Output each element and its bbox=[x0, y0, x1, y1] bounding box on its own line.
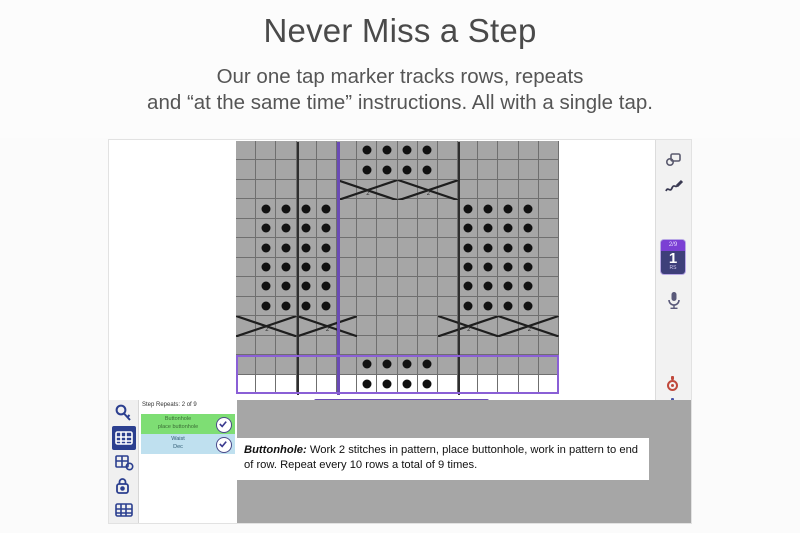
chart-cell[interactable] bbox=[337, 219, 357, 238]
chart-cell[interactable] bbox=[377, 316, 397, 335]
cable-cross-icon[interactable]: 2 bbox=[236, 316, 297, 336]
pencil-edit-icon[interactable] bbox=[662, 176, 686, 200]
chart-cell[interactable] bbox=[276, 180, 296, 199]
chart-cell[interactable] bbox=[377, 258, 397, 277]
chart-cell[interactable] bbox=[236, 336, 256, 355]
purl-dot-icon bbox=[302, 224, 311, 233]
chart-cell[interactable] bbox=[337, 277, 357, 296]
chart-cell[interactable] bbox=[357, 336, 377, 355]
purl-dot-icon bbox=[322, 224, 331, 233]
marker-tag-icon[interactable] bbox=[662, 148, 686, 172]
chart-cell[interactable] bbox=[438, 238, 458, 257]
purl-dot-icon bbox=[504, 301, 513, 310]
chart-cell[interactable] bbox=[276, 336, 296, 355]
purl-dot-icon bbox=[302, 301, 311, 310]
chart-cell[interactable] bbox=[519, 336, 539, 355]
chart-alt-icon[interactable] bbox=[112, 498, 136, 522]
promo-subtitle: Our one tap marker tracks rows, repeats … bbox=[0, 64, 800, 116]
chart-cell[interactable] bbox=[398, 238, 418, 257]
chart-cell[interactable] bbox=[236, 238, 256, 257]
cable-cross-icon[interactable]: 2 bbox=[398, 180, 459, 200]
step-check-icon[interactable] bbox=[216, 437, 232, 453]
purl-dot-icon bbox=[261, 204, 270, 213]
purl-dot-icon bbox=[463, 301, 472, 310]
marker-core bbox=[671, 384, 674, 387]
chart-cell[interactable] bbox=[458, 180, 478, 199]
chart-cell[interactable] bbox=[418, 277, 438, 296]
chart-cell[interactable] bbox=[519, 277, 539, 296]
chart-cell[interactable] bbox=[236, 219, 256, 238]
chart-cell[interactable] bbox=[438, 277, 458, 296]
chart-cell[interactable] bbox=[398, 336, 418, 355]
chart-cell[interactable] bbox=[236, 199, 256, 218]
purl-dot-icon bbox=[504, 224, 513, 233]
chart-cell[interactable] bbox=[458, 258, 478, 277]
chart-cell[interactable] bbox=[297, 199, 317, 218]
chart-cell[interactable] bbox=[418, 238, 438, 257]
chart-cell[interactable] bbox=[256, 336, 276, 355]
chart-cell[interactable] bbox=[377, 297, 397, 316]
chart-cell[interactable] bbox=[478, 258, 498, 277]
chart-cell[interactable] bbox=[498, 258, 518, 277]
chart-cell[interactable] bbox=[276, 199, 296, 218]
chart-cell[interactable] bbox=[458, 336, 478, 355]
active-row-highlight[interactable] bbox=[236, 355, 559, 394]
chart-cell[interactable] bbox=[377, 277, 397, 296]
chart-cell[interactable] bbox=[478, 141, 498, 160]
purl-dot-icon bbox=[281, 262, 290, 271]
purl-dot-icon bbox=[322, 243, 331, 252]
instruction-label: Buttonhole: bbox=[244, 444, 307, 456]
chart-cell[interactable] bbox=[539, 160, 559, 179]
chart-cell[interactable] bbox=[398, 160, 418, 179]
chart-cell[interactable] bbox=[297, 258, 317, 277]
chart-cell[interactable] bbox=[478, 297, 498, 316]
chart-cell[interactable] bbox=[539, 141, 559, 160]
purl-dot-icon bbox=[423, 146, 432, 155]
purl-dot-icon bbox=[322, 301, 331, 310]
purl-dot-icon bbox=[302, 204, 311, 213]
cable-count-label: 2 bbox=[427, 191, 430, 197]
chart-cell[interactable] bbox=[357, 141, 377, 160]
chart-cell[interactable] bbox=[317, 180, 337, 199]
chart-cell[interactable] bbox=[519, 160, 539, 179]
chart-cell[interactable] bbox=[458, 277, 478, 296]
chart-cell[interactable] bbox=[458, 238, 478, 257]
chart-cell[interactable] bbox=[357, 160, 377, 179]
promo-header: Never Miss a Step Our one tap marker tra… bbox=[0, 0, 800, 138]
chart-cell[interactable] bbox=[498, 160, 518, 179]
chart-cell[interactable] bbox=[276, 141, 296, 160]
chart-cell[interactable] bbox=[357, 277, 377, 296]
purl-dot-icon bbox=[261, 282, 270, 291]
step-row-title: Buttonhole bbox=[141, 416, 215, 422]
chart-cell[interactable] bbox=[236, 258, 256, 277]
purl-dot-icon bbox=[524, 262, 533, 271]
chart-cell[interactable] bbox=[519, 297, 539, 316]
chart-cell[interactable] bbox=[276, 160, 296, 179]
chart-cell[interactable] bbox=[357, 238, 377, 257]
chart-canvas[interactable]: 222222 bbox=[109, 140, 692, 400]
chart-cell[interactable] bbox=[519, 238, 539, 257]
cable-count-label: 2 bbox=[326, 327, 329, 333]
purl-dot-icon bbox=[322, 204, 331, 213]
chart-cell[interactable] bbox=[276, 258, 296, 277]
chart-cell[interactable] bbox=[418, 258, 438, 277]
chart-cell[interactable] bbox=[357, 297, 377, 316]
chart-cell[interactable] bbox=[357, 316, 377, 335]
chart-cell[interactable] bbox=[458, 297, 478, 316]
chart-cell[interactable] bbox=[478, 336, 498, 355]
chart-cell[interactable] bbox=[297, 141, 317, 160]
purl-dot-icon bbox=[483, 301, 492, 310]
purl-dot-icon bbox=[281, 282, 290, 291]
chart-cell[interactable] bbox=[418, 141, 438, 160]
chart-cell[interactable] bbox=[539, 258, 559, 277]
chart-cell[interactable] bbox=[377, 238, 397, 257]
chart-cell[interactable] bbox=[398, 199, 418, 218]
chart-cell[interactable] bbox=[458, 199, 478, 218]
purl-dot-icon bbox=[382, 165, 391, 174]
chart-cell[interactable] bbox=[317, 258, 337, 277]
chart-cell[interactable] bbox=[519, 219, 539, 238]
chart-cell[interactable] bbox=[478, 199, 498, 218]
purl-dot-icon bbox=[302, 243, 311, 252]
chart-cell[interactable] bbox=[418, 316, 438, 335]
cable-count-label: 2 bbox=[528, 327, 531, 333]
microphone-icon[interactable] bbox=[662, 288, 686, 312]
chart-cell[interactable] bbox=[317, 219, 337, 238]
chart-cell[interactable] bbox=[398, 277, 418, 296]
app-screenshot: 222222 2/9 bbox=[108, 139, 692, 524]
purl-dot-icon bbox=[403, 146, 412, 155]
chart-cell[interactable] bbox=[377, 199, 397, 218]
purl-dot-icon bbox=[463, 204, 472, 213]
step-row-subtitle: place buttonhole bbox=[141, 424, 215, 430]
purl-dot-icon bbox=[362, 146, 371, 155]
chart-cell[interactable] bbox=[438, 141, 458, 160]
chart-cell[interactable] bbox=[539, 336, 559, 355]
chart-cell[interactable] bbox=[438, 258, 458, 277]
chart-cell[interactable] bbox=[317, 336, 337, 355]
left-toolbar[interactable] bbox=[109, 400, 139, 524]
step-check-icon[interactable] bbox=[216, 417, 232, 433]
purl-dot-icon bbox=[362, 165, 371, 174]
chart-cell[interactable] bbox=[357, 258, 377, 277]
chart-cell[interactable] bbox=[478, 238, 498, 257]
purl-dot-icon bbox=[382, 146, 391, 155]
bottom-panel: Step Repeats: 2 of 9 Buttonhole place bu… bbox=[109, 400, 692, 524]
chart-cell[interactable] bbox=[398, 258, 418, 277]
chart-cell[interactable] bbox=[337, 297, 357, 316]
purl-dot-icon bbox=[483, 262, 492, 271]
chart-cell[interactable] bbox=[478, 277, 498, 296]
cable-count-label: 2 bbox=[265, 327, 268, 333]
chart-cell[interactable] bbox=[519, 141, 539, 160]
chart-cell[interactable] bbox=[236, 297, 256, 316]
chart-cell[interactable] bbox=[297, 277, 317, 296]
chart-cell[interactable] bbox=[317, 238, 337, 257]
chart-cell[interactable] bbox=[498, 199, 518, 218]
chart-cell[interactable] bbox=[438, 219, 458, 238]
chart-cell[interactable] bbox=[498, 336, 518, 355]
chart-cell[interactable] bbox=[337, 199, 357, 218]
chart-cell[interactable] bbox=[317, 160, 337, 179]
chart-cell[interactable] bbox=[256, 277, 276, 296]
chart-cell[interactable] bbox=[478, 219, 498, 238]
chart-cell[interactable] bbox=[337, 160, 357, 179]
purl-dot-icon bbox=[524, 224, 533, 233]
chart-cell[interactable] bbox=[418, 297, 438, 316]
purl-dot-icon bbox=[504, 262, 513, 271]
chart-cell[interactable] bbox=[256, 258, 276, 277]
chart-cell[interactable] bbox=[398, 297, 418, 316]
chart-cell[interactable] bbox=[438, 160, 458, 179]
chart-cell[interactable] bbox=[458, 219, 478, 238]
stitch-chart-grid[interactable]: 222222 bbox=[236, 141, 559, 394]
purl-dot-icon bbox=[281, 204, 290, 213]
chart-cell[interactable] bbox=[337, 141, 357, 160]
chart-cell[interactable] bbox=[498, 277, 518, 296]
chart-cell[interactable] bbox=[539, 238, 559, 257]
chart-cell[interactable] bbox=[256, 160, 276, 179]
chart-cell[interactable] bbox=[297, 297, 317, 316]
purl-dot-icon bbox=[504, 282, 513, 291]
chart-cell[interactable] bbox=[317, 297, 337, 316]
chart-cell[interactable] bbox=[256, 297, 276, 316]
purl-dot-icon bbox=[261, 262, 270, 271]
chart-cell[interactable] bbox=[458, 160, 478, 179]
chart-cell[interactable] bbox=[276, 277, 296, 296]
page-title: Never Miss a Step bbox=[0, 12, 800, 50]
cable-count-label: 2 bbox=[366, 191, 369, 197]
purl-dot-icon bbox=[261, 224, 270, 233]
chart-cell[interactable] bbox=[398, 219, 418, 238]
chart-cell[interactable] bbox=[498, 141, 518, 160]
chart-cell[interactable] bbox=[458, 141, 478, 160]
chart-cell[interactable] bbox=[337, 336, 357, 355]
purl-dot-icon bbox=[463, 243, 472, 252]
chart-cell[interactable] bbox=[357, 199, 377, 218]
chart-cell[interactable] bbox=[418, 199, 438, 218]
purl-dot-icon bbox=[261, 301, 270, 310]
purl-dot-icon bbox=[524, 282, 533, 291]
chart-cell[interactable] bbox=[236, 277, 256, 296]
chart-cell[interactable] bbox=[256, 219, 276, 238]
chart-cell[interactable] bbox=[438, 336, 458, 355]
chart-cell[interactable] bbox=[317, 277, 337, 296]
chart-cell[interactable] bbox=[256, 238, 276, 257]
chart-cell[interactable] bbox=[256, 180, 276, 199]
chart-cell[interactable] bbox=[357, 219, 377, 238]
chart-cell[interactable] bbox=[377, 141, 397, 160]
chart-cell[interactable] bbox=[377, 219, 397, 238]
chart-cell[interactable] bbox=[478, 160, 498, 179]
cable-cross-icon[interactable]: 2 bbox=[498, 316, 559, 336]
chart-cell[interactable] bbox=[377, 336, 397, 355]
chart-cell[interactable] bbox=[236, 160, 256, 179]
chart-cell[interactable] bbox=[418, 336, 438, 355]
chart-cell[interactable] bbox=[398, 316, 418, 335]
purl-dot-icon bbox=[302, 282, 311, 291]
row-counter-unit: RS bbox=[661, 265, 685, 271]
chart-cell[interactable] bbox=[317, 199, 337, 218]
chart-cell[interactable] bbox=[539, 219, 559, 238]
chart-cell[interactable] bbox=[256, 141, 276, 160]
chart-cell[interactable] bbox=[539, 277, 559, 296]
purl-dot-icon bbox=[281, 243, 290, 252]
chart-cell[interactable] bbox=[418, 160, 438, 179]
cable-cross-icon[interactable]: 2 bbox=[438, 316, 499, 336]
chart-cell[interactable] bbox=[519, 258, 539, 277]
chart-cell[interactable] bbox=[236, 141, 256, 160]
cable-cross-icon[interactable]: 2 bbox=[337, 180, 398, 200]
purl-dot-icon bbox=[302, 262, 311, 271]
step-repeats-panel[interactable]: Step Repeats: 2 of 9 Buttonhole place bu… bbox=[139, 400, 237, 524]
search-key-icon[interactable] bbox=[112, 402, 136, 426]
chart-cell[interactable] bbox=[377, 160, 397, 179]
purl-dot-icon bbox=[463, 282, 472, 291]
cable-cross-icon[interactable]: 2 bbox=[297, 316, 358, 336]
chart-cell[interactable] bbox=[317, 141, 337, 160]
purl-dot-icon bbox=[524, 204, 533, 213]
chart-cell[interactable] bbox=[438, 199, 458, 218]
chart-cell[interactable] bbox=[276, 238, 296, 257]
chart-cell[interactable] bbox=[418, 219, 438, 238]
purl-dot-icon bbox=[322, 282, 331, 291]
chart-cell[interactable] bbox=[498, 297, 518, 316]
cable-count-label: 2 bbox=[467, 327, 470, 333]
promo-screenshot: Never Miss a Step Our one tap marker tra… bbox=[0, 0, 800, 533]
chart-cell[interactable] bbox=[337, 258, 357, 277]
chart-cell[interactable] bbox=[297, 336, 317, 355]
purl-dot-icon bbox=[524, 301, 533, 310]
purl-dot-icon bbox=[423, 165, 432, 174]
instruction-panel: Buttonhole: Work 2 stitches in pattern, … bbox=[237, 438, 649, 480]
chart-cell[interactable] bbox=[519, 180, 539, 199]
chart-grid-icon[interactable] bbox=[112, 426, 136, 450]
counter-lock-icon[interactable] bbox=[112, 474, 136, 498]
purl-dot-icon bbox=[281, 301, 290, 310]
purl-dot-icon bbox=[483, 282, 492, 291]
chart-cell[interactable] bbox=[519, 199, 539, 218]
chart-cell[interactable] bbox=[498, 219, 518, 238]
purl-dot-icon bbox=[463, 224, 472, 233]
purl-dot-icon bbox=[322, 262, 331, 271]
purl-dot-icon bbox=[483, 204, 492, 213]
chart-cell[interactable] bbox=[539, 199, 559, 218]
chart-cell[interactable] bbox=[337, 238, 357, 257]
chart-cell[interactable] bbox=[539, 297, 559, 316]
purl-dot-icon bbox=[403, 165, 412, 174]
chart-cell[interactable] bbox=[276, 297, 296, 316]
step-row-buttonhole[interactable]: Buttonhole place buttonhole bbox=[141, 414, 235, 434]
chart-cell[interactable] bbox=[498, 180, 518, 199]
chart-cell[interactable] bbox=[539, 180, 559, 199]
chart-check-icon[interactable] bbox=[112, 450, 136, 474]
purl-dot-icon bbox=[524, 243, 533, 252]
promo-subtitle-line1: Our one tap marker tracks rows, repeats bbox=[0, 64, 800, 90]
purl-dot-icon bbox=[261, 243, 270, 252]
purl-dot-icon bbox=[483, 243, 492, 252]
purl-dot-icon bbox=[504, 243, 513, 252]
chart-cell[interactable] bbox=[398, 141, 418, 160]
purl-dot-icon bbox=[504, 204, 513, 213]
chart-cell[interactable] bbox=[297, 160, 317, 179]
row-marker-red[interactable] bbox=[665, 376, 681, 392]
purl-dot-icon bbox=[281, 224, 290, 233]
purl-dot-icon bbox=[463, 262, 472, 271]
step-row-subtitle: Dec bbox=[141, 444, 215, 450]
chart-cell[interactable] bbox=[478, 180, 498, 199]
step-row-title: Waist bbox=[141, 436, 215, 442]
chart-cell[interactable] bbox=[297, 180, 317, 199]
chart-cell[interactable] bbox=[256, 199, 276, 218]
chart-cell[interactable] bbox=[236, 180, 256, 199]
row-counter-badge[interactable]: 2/9 1 RS bbox=[661, 240, 685, 274]
step-repeats-header: Step Repeats: 2 of 9 bbox=[142, 402, 236, 408]
purl-dot-icon bbox=[483, 224, 492, 233]
chart-cell[interactable] bbox=[297, 219, 317, 238]
chart-cell[interactable] bbox=[276, 219, 296, 238]
chart-cell[interactable] bbox=[297, 238, 317, 257]
chart-cell[interactable] bbox=[438, 297, 458, 316]
promo-subtitle-line2: and “at the same time” instructions. All… bbox=[0, 90, 800, 116]
step-row-waist[interactable]: Waist Dec bbox=[141, 434, 235, 454]
chart-cell[interactable] bbox=[498, 238, 518, 257]
